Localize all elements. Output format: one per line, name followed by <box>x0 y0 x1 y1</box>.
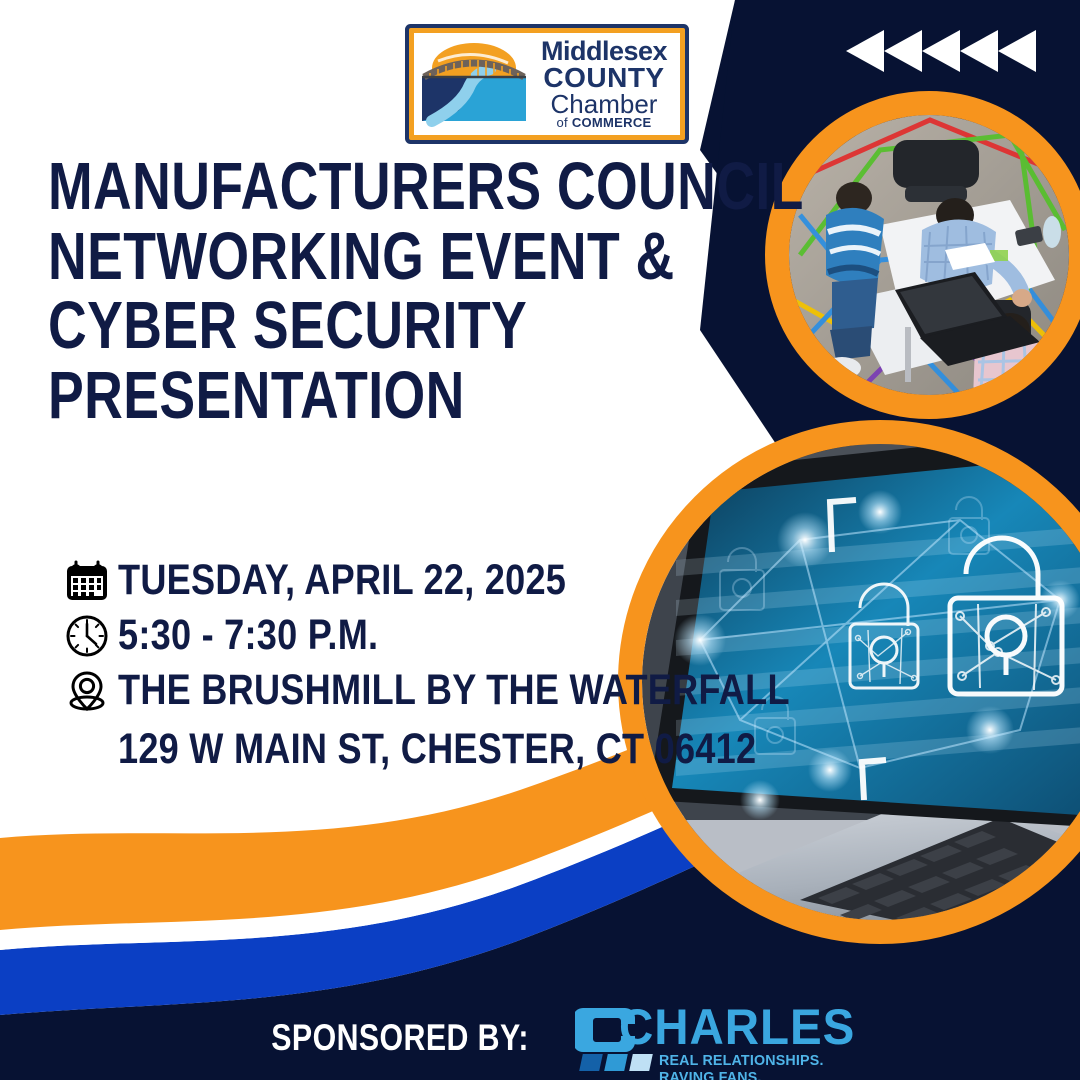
event-date: TUESDAY, APRIL 22, 2025 <box>118 556 566 605</box>
chamber-logo-line4: of COMMERCE <box>556 117 651 130</box>
location-pin-icon <box>56 667 118 715</box>
event-venue: THE BRUSHMILL BY THE WATERFALL <box>118 666 790 715</box>
detail-row-date: TUESDAY, APRIL 22, 2025 <box>56 556 696 605</box>
event-time: 5:30 - 7:30 P.M. <box>118 611 378 660</box>
sponsor-block: SPONSORED BY: CHARLES REAL RELATIONSHIPS… <box>0 995 1080 1080</box>
detail-row-venue: THE BRUSHMILL BY THE WATERFALL <box>56 666 696 715</box>
title-line-1: MANUFACTURERS COUNCIL <box>48 152 576 222</box>
chamber-logo-line3: Chamber <box>551 92 658 117</box>
event-details: TUESDAY, APRIL 22, 2025 5:30 - 7:30 P.M. <box>56 556 696 774</box>
detail-row-time: 5:30 - 7:30 P.M. <box>56 611 696 660</box>
charles-tagline: REAL RELATIONSHIPS. RAVING FANS. <box>659 1052 828 1080</box>
event-flyer: Middlesex COUNTY Chamber of COMMERCE MAN… <box>0 0 1080 1080</box>
chamber-logo: Middlesex COUNTY Chamber of COMMERCE <box>409 28 685 140</box>
sponsored-by-label: SPONSORED BY: <box>271 1017 529 1059</box>
title-line-2: NETWORKING EVENT & <box>48 222 576 292</box>
title-line-4: PRESENTATION <box>48 361 576 431</box>
title-line-3: CYBER SECURITY <box>48 291 576 361</box>
clock-icon <box>56 612 118 660</box>
calendar-icon <box>56 557 118 605</box>
page-title: MANUFACTURERS COUNCIL NETWORKING EVENT &… <box>48 152 708 431</box>
charles-bar-2 <box>604 1054 628 1071</box>
charles-brand: CHARLES <box>619 1002 855 1052</box>
charles-bar-1 <box>579 1054 603 1071</box>
chamber-logo-of: of <box>556 115 571 130</box>
charles-bar-3 <box>629 1054 653 1071</box>
charles-logo: CHARLES REAL RELATIONSHIPS. RAVING FANS. <box>575 1002 837 1074</box>
chamber-logo-artwork <box>414 33 532 135</box>
team-collaboration-photo <box>777 103 1080 413</box>
chamber-logo-line2: COUNTY <box>543 64 664 91</box>
chamber-logo-line1: Middlesex <box>541 38 667 64</box>
event-address: 129 W MAIN ST, CHESTER, CT 06412 <box>118 725 604 774</box>
chamber-logo-commerce: COMMERCE <box>572 115 652 130</box>
